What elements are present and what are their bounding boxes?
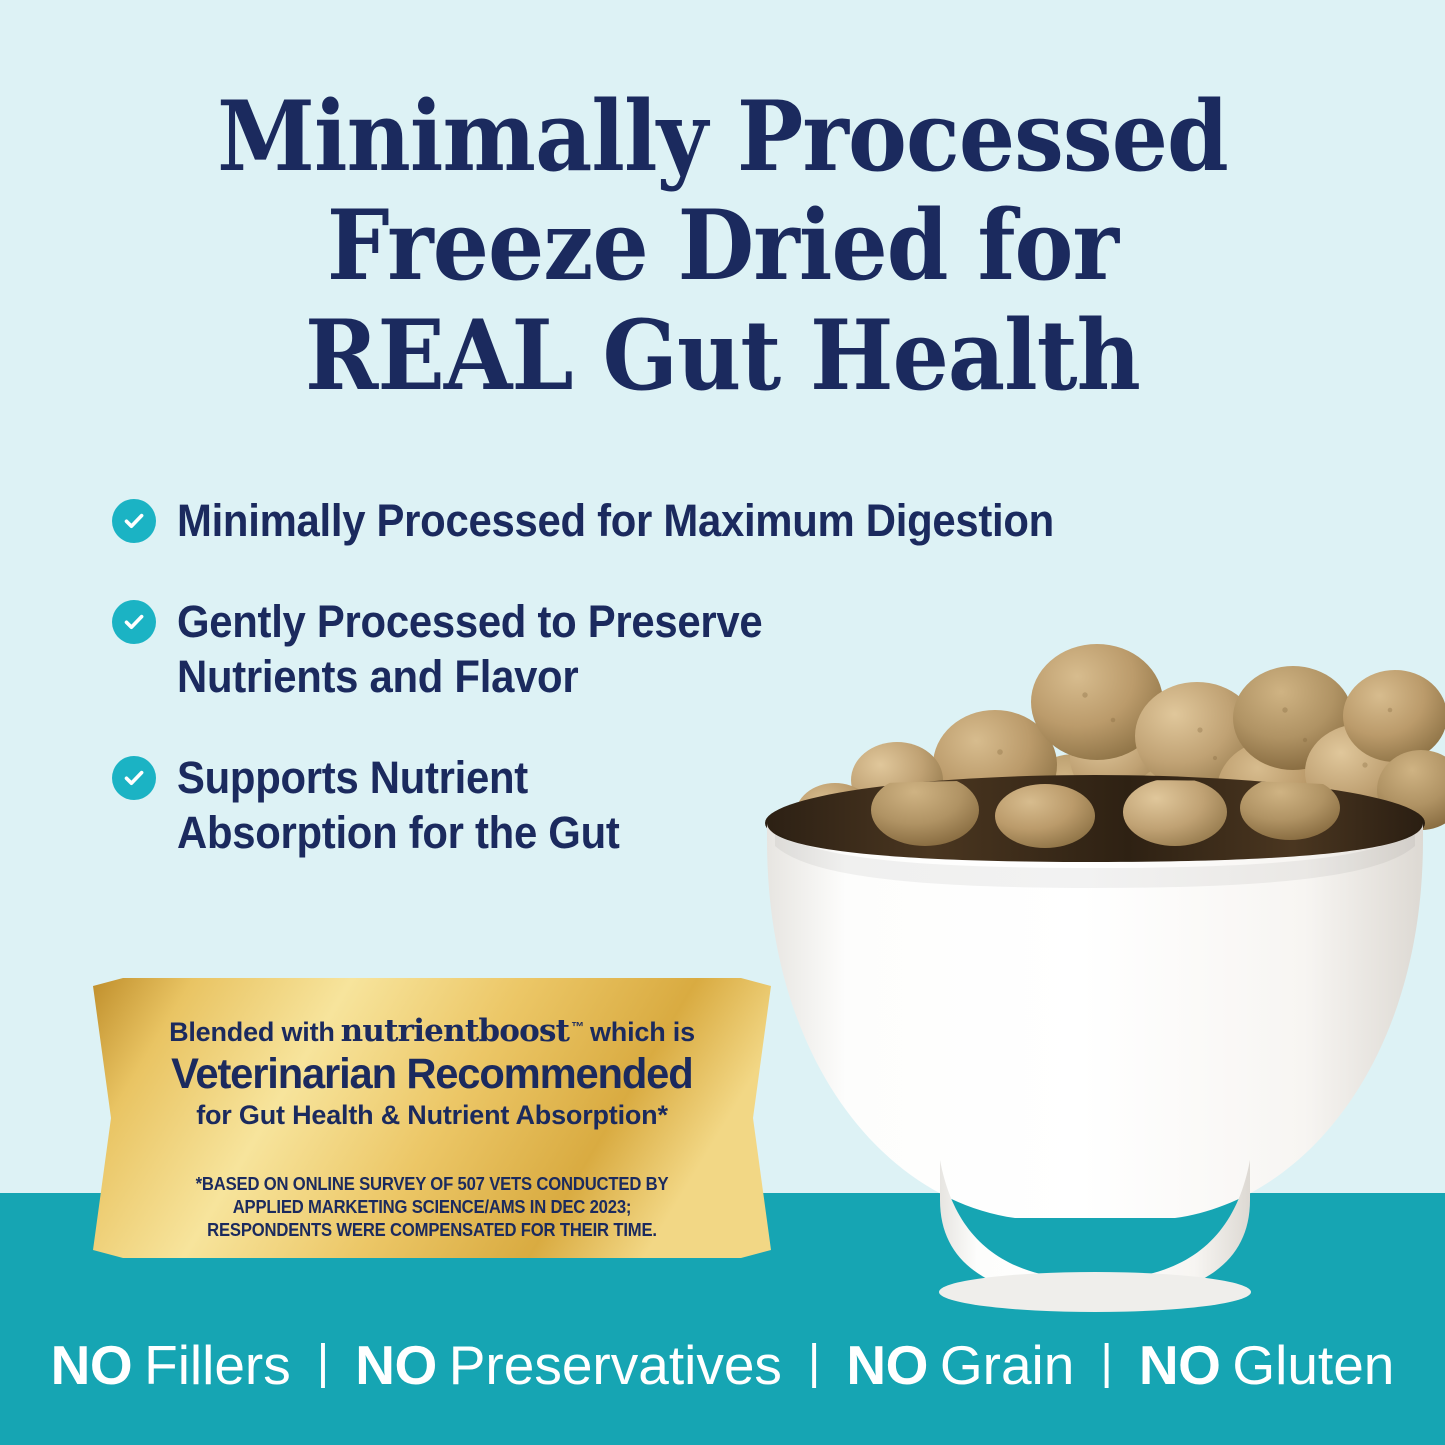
badge-line-2: Veterinarian Recommended: [171, 1050, 692, 1098]
benefit-text: Supports NutrientAbsorption for the Gut: [177, 751, 620, 861]
claim-word: Grain: [940, 1333, 1075, 1397]
headline-line-2: Freeze Dried for: [58, 191, 1387, 300]
brand-nutrientboost: nutrientboost: [341, 1014, 570, 1048]
vet-recommended-badge: Blended with nutrientboost ™ which is Ve…: [93, 978, 771, 1258]
check-circle-icon: [112, 600, 156, 644]
badge-line-3: for Gut Health & Nutrient Absorption*: [196, 1101, 668, 1131]
promo-banner: Minimally Processed Freeze Dried for REA…: [0, 0, 1445, 1445]
check-circle-icon: [112, 756, 156, 800]
check-circle-icon: [112, 499, 156, 543]
claim-word: Gluten: [1232, 1333, 1394, 1397]
claim-item: NO Fillers: [51, 1333, 291, 1397]
badge-line-1: Blended with nutrientboost ™ which is: [169, 1014, 695, 1048]
list-item: Supports NutrientAbsorption for the Gut: [112, 751, 1202, 861]
badge-prefix: Blended with: [169, 1018, 335, 1048]
claim-separator: |: [1100, 1335, 1112, 1390]
claim-word: Preservatives: [449, 1333, 782, 1397]
benefit-text: Gently Processed to PreserveNutrients an…: [177, 595, 762, 705]
claim-separator: |: [808, 1335, 820, 1390]
claim-word: Fillers: [144, 1333, 291, 1397]
page-title: Minimally Processed Freeze Dried for REA…: [58, 82, 1387, 410]
benefits-list: Minimally Processed for Maximum Digestio…: [112, 494, 1202, 860]
headline-line-3: REAL Gut Health: [58, 301, 1387, 410]
badge-disclaimer: *BASED ON ONLINE SURVEY OF 507 VETS COND…: [180, 1173, 684, 1242]
claim-no: NO: [51, 1333, 133, 1397]
headline-line-1: Minimally Processed: [58, 82, 1387, 191]
claim-item: NO Gluten: [1139, 1333, 1395, 1397]
trademark-mark: ™: [571, 1020, 584, 1034]
claim-no: NO: [1139, 1333, 1221, 1397]
benefit-text: Minimally Processed for Maximum Digestio…: [177, 494, 1054, 549]
list-item: Gently Processed to PreserveNutrients an…: [112, 595, 1202, 705]
badge-suffix: which is: [590, 1018, 695, 1048]
claim-item: NO Grain: [846, 1333, 1074, 1397]
claims-bar: NO Fillers | NO Preservatives | NO Grain…: [0, 1320, 1445, 1410]
claim-item: NO Preservatives: [355, 1333, 782, 1397]
list-item: Minimally Processed for Maximum Digestio…: [112, 494, 1202, 549]
claim-separator: |: [317, 1335, 329, 1390]
claim-no: NO: [355, 1333, 437, 1397]
claim-no: NO: [846, 1333, 928, 1397]
